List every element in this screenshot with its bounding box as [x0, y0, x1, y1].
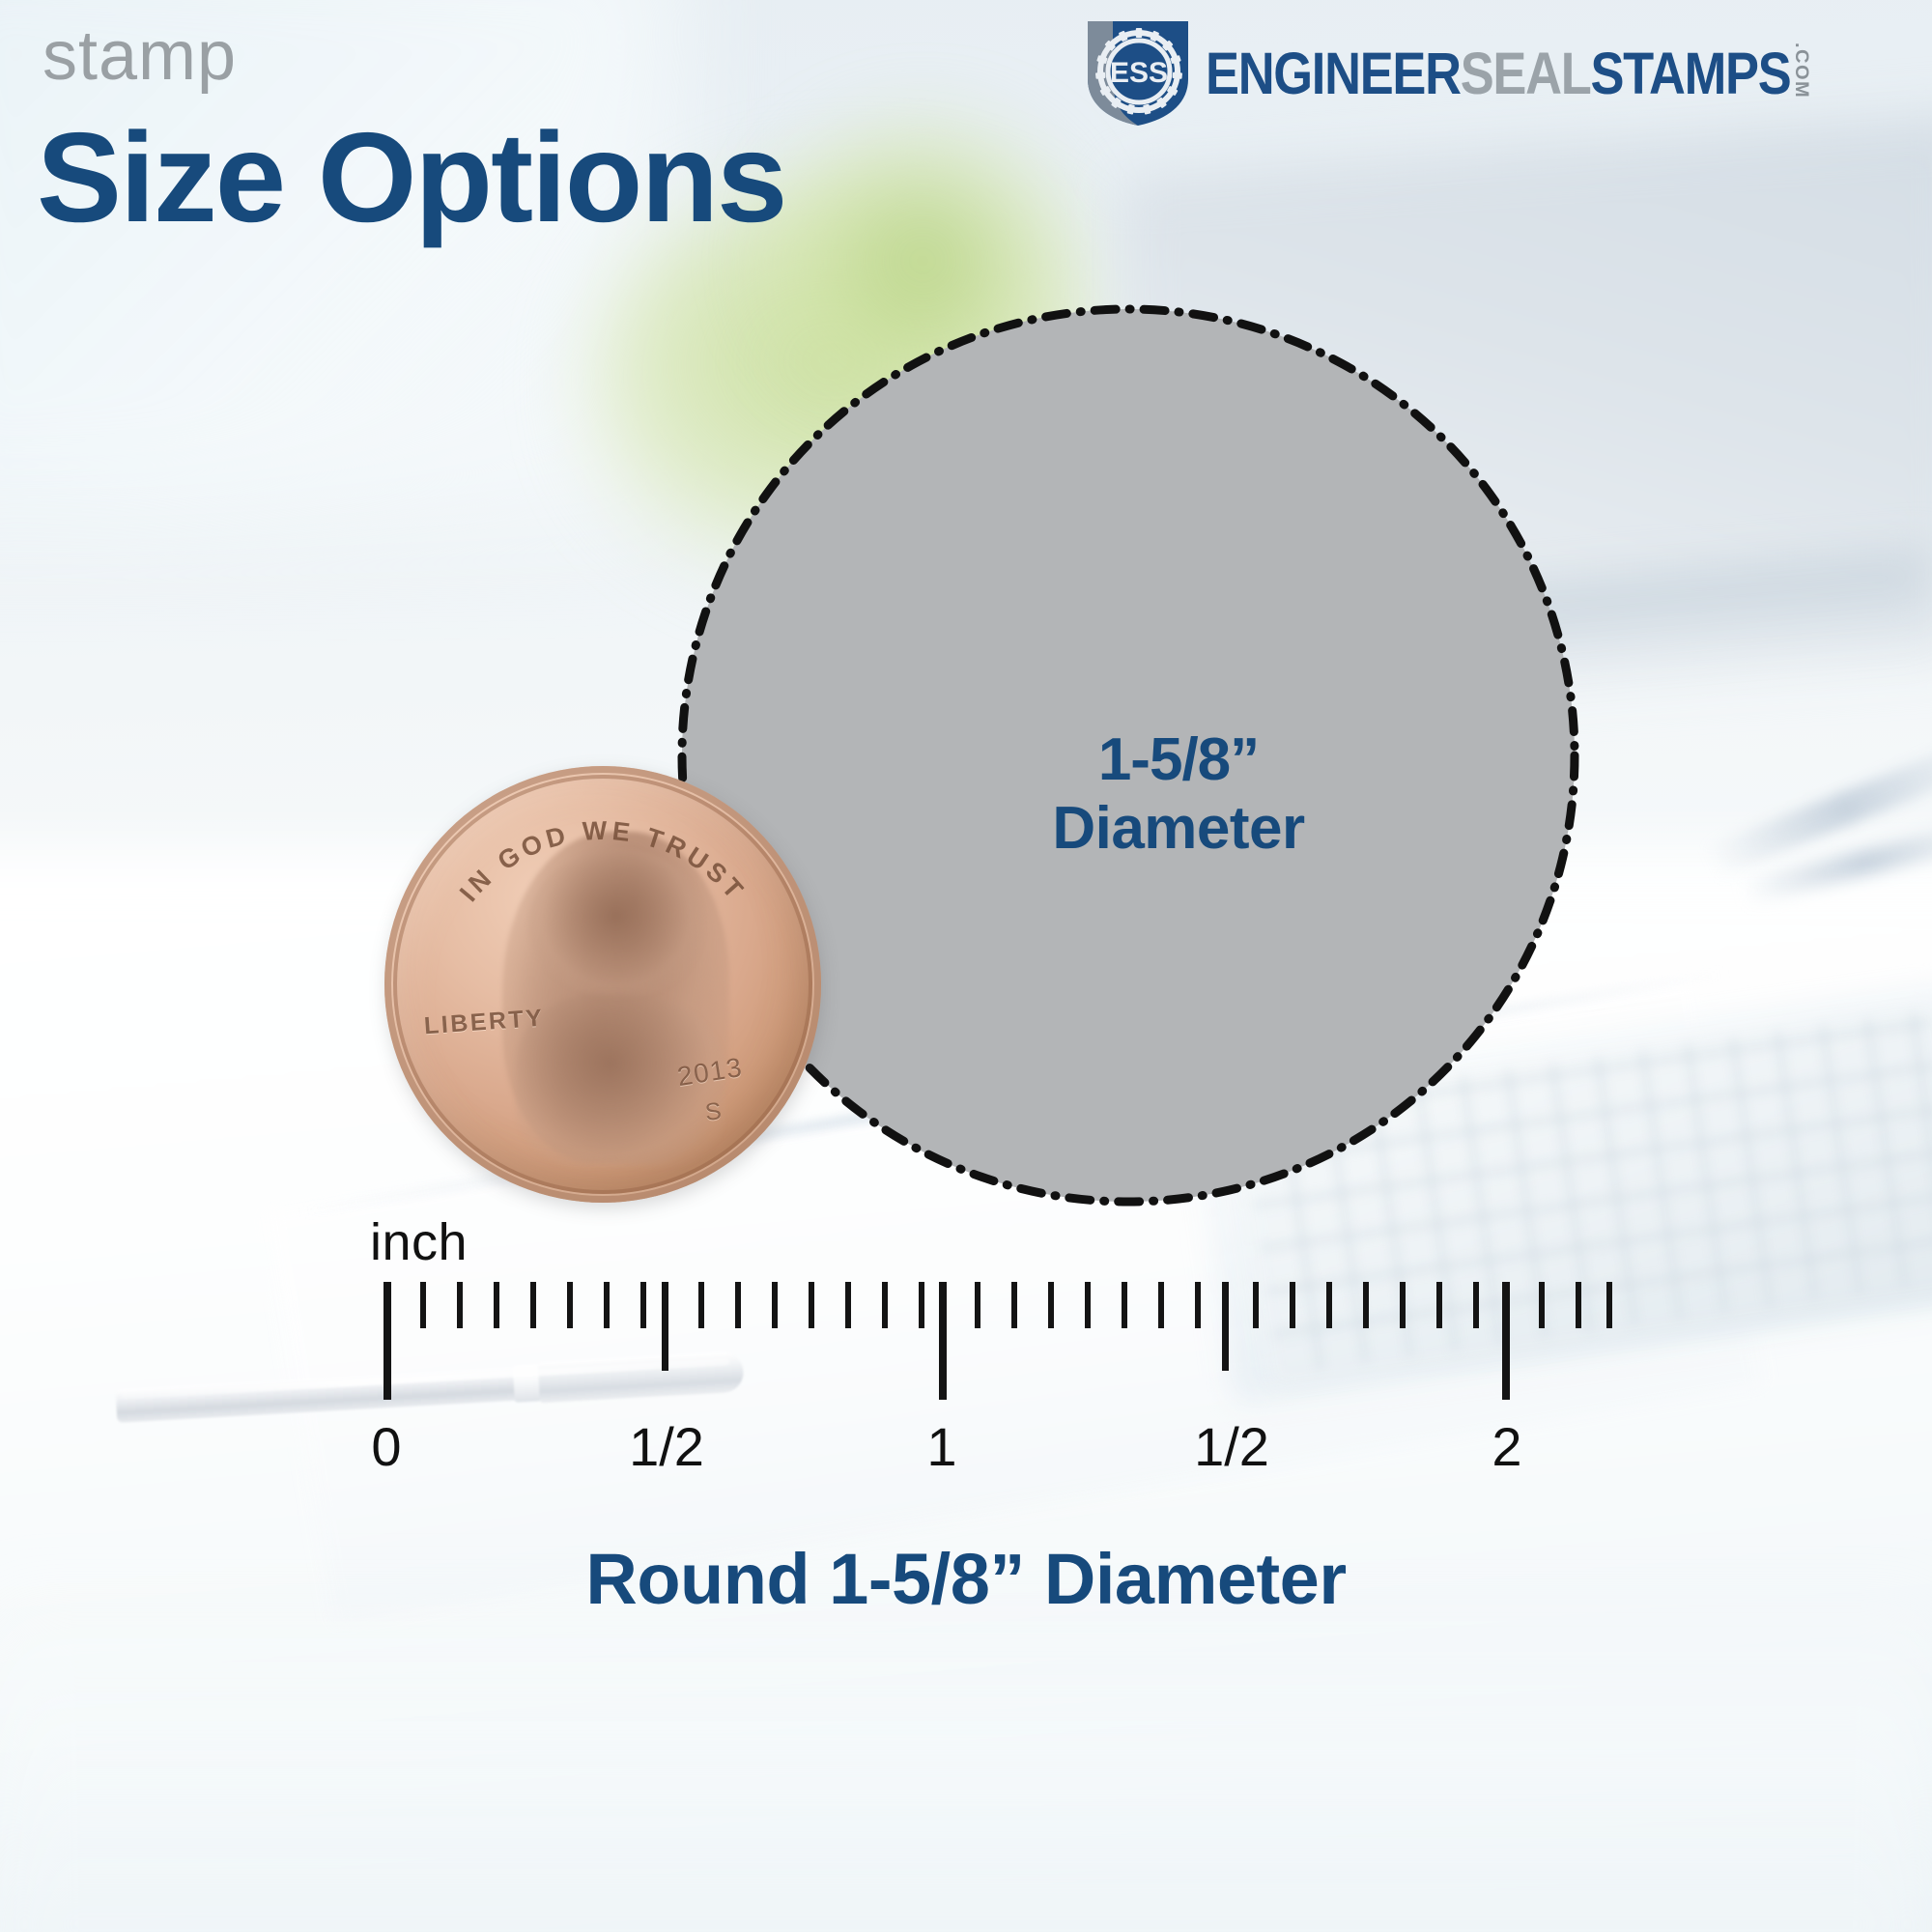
page-title: Size Options	[37, 114, 785, 241]
ruler-tick-minor	[457, 1282, 463, 1328]
ruler-tick-major	[939, 1282, 947, 1400]
ruler-tick-minor	[1011, 1282, 1017, 1328]
ruler-label-4: 2	[1492, 1415, 1521, 1478]
ruler-tick-minor	[1363, 1282, 1369, 1328]
ruler-tick-minor	[640, 1282, 646, 1328]
ruler-tick-minor	[919, 1282, 924, 1328]
svg-text:IN GOD WE TRUST: IN GOD WE TRUST	[454, 816, 752, 907]
header-eyebrow: stamp	[43, 21, 237, 91]
logo-word-engineer: ENGINEER	[1206, 46, 1461, 100]
stamp-size-value: 1-5/8”	[976, 726, 1381, 795]
ruler-label-0: 0	[371, 1415, 401, 1478]
ruler-tick-minor	[567, 1282, 573, 1328]
ruler-tick-minor	[772, 1282, 778, 1328]
ruler-tick-major	[1502, 1282, 1510, 1400]
coin-motto-text: IN GOD WE TRUST	[454, 816, 752, 907]
ruler-tick-minor	[604, 1282, 610, 1328]
ruler-tick-half	[1222, 1282, 1229, 1371]
ruler-tick-minor	[698, 1282, 704, 1328]
ruler-tick-marks	[0, 1282, 1932, 1407]
ruler-label-2: 1	[926, 1415, 956, 1478]
ruler-tick-minor	[1473, 1282, 1479, 1328]
ruler-tick-minor	[1158, 1282, 1164, 1328]
svg-text:ESS: ESS	[1110, 57, 1168, 89]
inch-ruler: inch 01/211/22	[0, 1212, 1932, 1502]
ruler-tick-minor	[809, 1282, 814, 1328]
ruler-tick-minor	[1400, 1282, 1406, 1328]
ruler-tick-minor	[1539, 1282, 1545, 1328]
ruler-label-3: 1/2	[1194, 1415, 1269, 1478]
stamp-size-dimension: Diameter	[976, 795, 1381, 864]
logo-word-stamps: STAMPS	[1590, 46, 1790, 100]
logo-wordmark: ENGINEER SEAL STAMPS .COM	[1206, 43, 1809, 100]
ess-shield-icon: ESS	[1084, 15, 1192, 128]
ruler-tick-minor	[1195, 1282, 1201, 1328]
ruler-tick-minor	[530, 1282, 536, 1328]
ruler-tick-minor	[1085, 1282, 1091, 1328]
ruler-tick-minor	[882, 1282, 888, 1328]
ruler-tick-minor	[420, 1282, 426, 1328]
logo-word-seal: SEAL	[1460, 46, 1590, 100]
ruler-tick-major	[384, 1282, 391, 1400]
penny-coin-reference: IN GOD WE TRUST LIBERTY 2013 S	[384, 766, 821, 1203]
ruler-unit-label: inch	[370, 1212, 468, 1272]
ruler-tick-minor	[735, 1282, 741, 1328]
ruler-tick-minor	[1606, 1282, 1612, 1328]
ruler-tick-minor	[845, 1282, 851, 1328]
ruler-label-1: 1/2	[629, 1415, 704, 1478]
ruler-tick-half	[662, 1282, 668, 1371]
coin-mint-mark: S	[704, 1097, 724, 1127]
ruler-tick-minor	[494, 1282, 499, 1328]
brand-logo[interactable]: ESS ENGINEER SEAL STAMPS .COM	[1084, 17, 1907, 126]
logo-word-dotcom: .COM	[1792, 43, 1809, 99]
ruler-tick-minor	[1253, 1282, 1259, 1328]
ruler-tick-minor	[1576, 1282, 1581, 1328]
coin-motto-arc: IN GOD WE TRUST	[384, 766, 821, 1203]
ruler-tick-minor	[1436, 1282, 1442, 1328]
size-caption: Round 1-5/8” Diameter	[0, 1538, 1932, 1620]
bottom-light-wash	[0, 1584, 1932, 1932]
ruler-tick-minor	[975, 1282, 980, 1328]
ruler-tick-minor	[1290, 1282, 1295, 1328]
ruler-tick-minor	[1122, 1282, 1127, 1328]
stamp-size-label: 1-5/8” Diameter	[976, 726, 1381, 863]
ruler-tick-minor	[1048, 1282, 1054, 1328]
ruler-tick-minor	[1326, 1282, 1332, 1328]
